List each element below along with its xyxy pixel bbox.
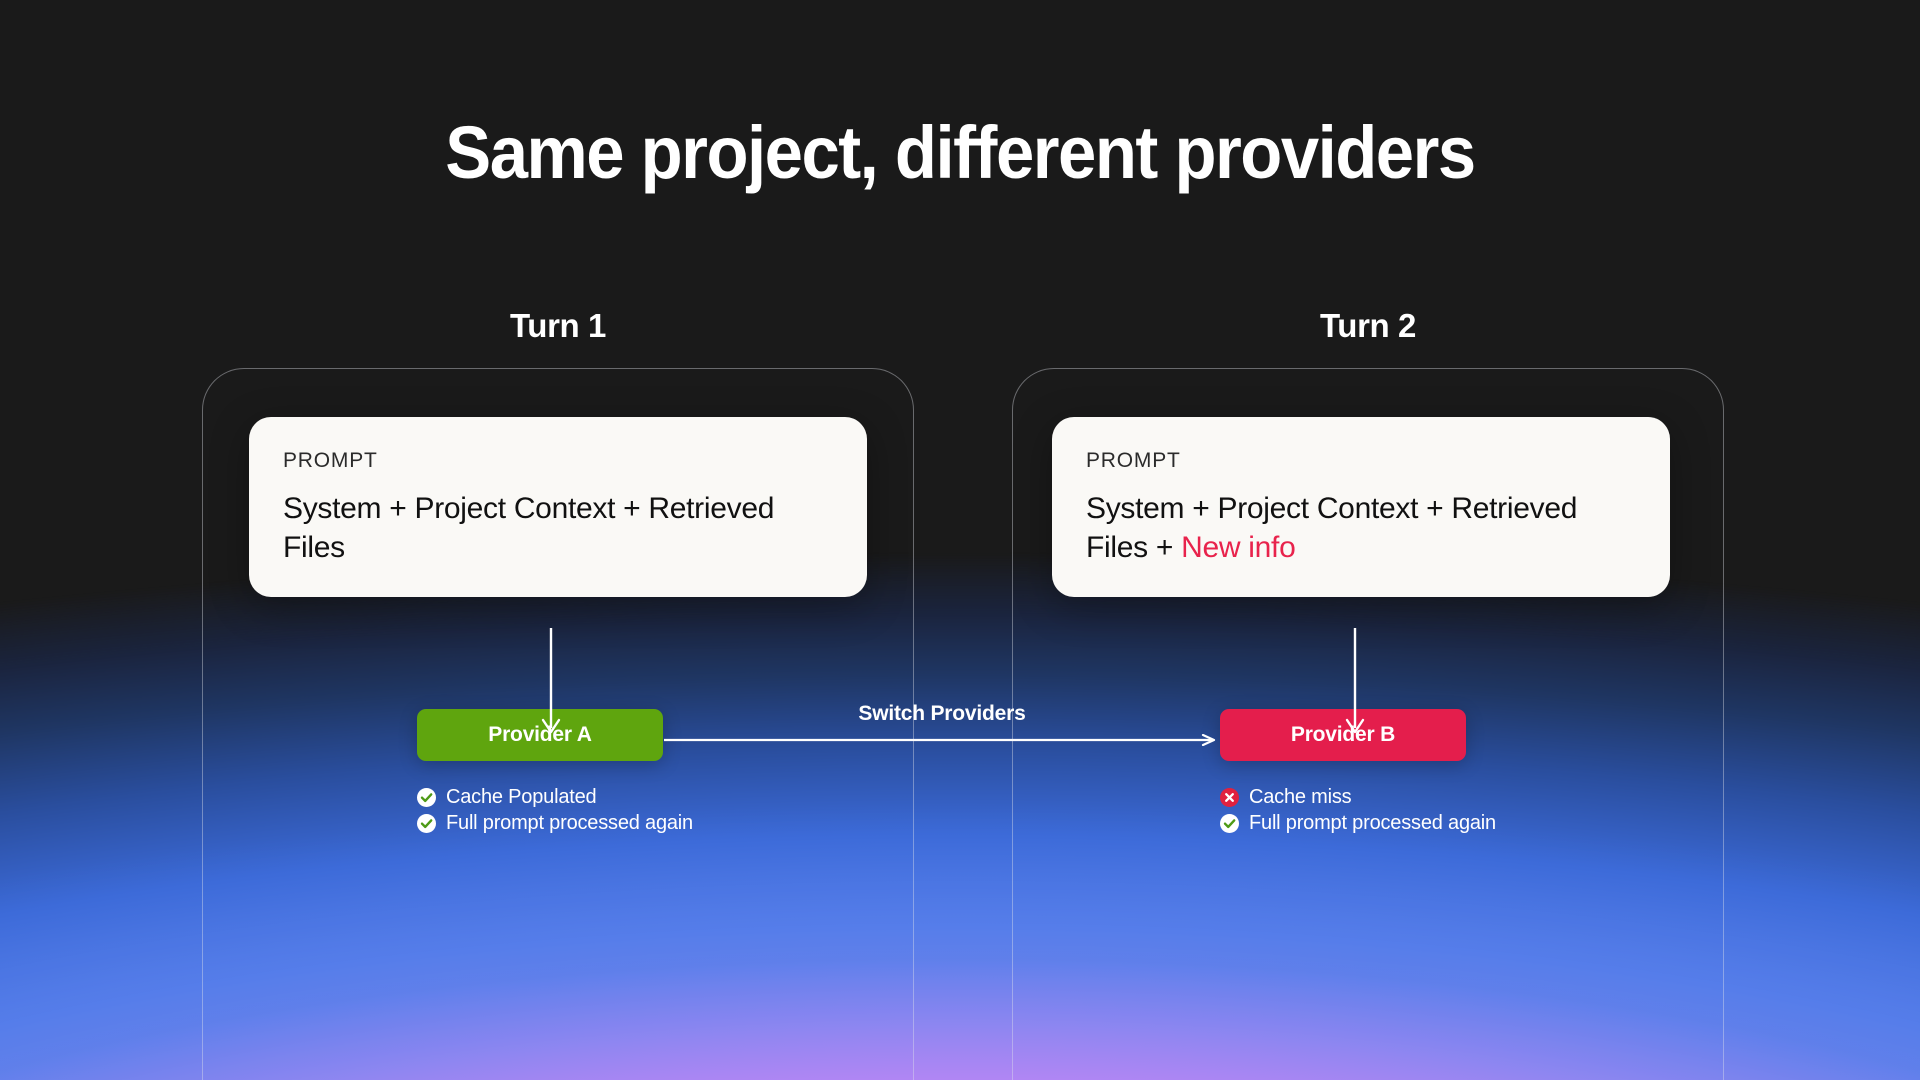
slide-canvas: Same project, different providers Turn 1… (0, 0, 1920, 1080)
arrow-down-icon-turn2 (1343, 628, 1367, 738)
prompt-text-plain-1: System + Project Context + Retrieved Fil… (283, 492, 774, 564)
slide-content: Same project, different providers Turn 1… (0, 0, 1920, 1080)
prompt-body-1: System + Project Context + Retrieved Fil… (283, 489, 833, 567)
outcome-label: Full prompt processed again (446, 812, 693, 835)
prompt-card-turn2: PROMPT System + Project Context + Retrie… (1052, 417, 1670, 597)
prompt-card-turn1: PROMPT System + Project Context + Retrie… (249, 417, 867, 597)
list-item: Cache Populated (417, 785, 693, 810)
prompt-text-accent-2: New info (1181, 531, 1295, 564)
prompt-text-plain-2: System + Project Context + Retrieved Fil… (1086, 492, 1577, 564)
check-circle-icon (417, 814, 436, 833)
outcome-list-turn1: Cache Populated Full prompt processed ag… (417, 785, 693, 837)
arrow-right-icon-switch (664, 733, 1220, 745)
outcome-list-turn2: Cache miss Full prompt processed again (1220, 785, 1496, 837)
outcome-label: Cache miss (1249, 786, 1351, 809)
outcome-label: Cache Populated (446, 786, 596, 809)
check-circle-icon (1220, 814, 1239, 833)
page-title: Same project, different providers (67, 110, 1853, 195)
list-item: Full prompt processed again (1220, 811, 1496, 836)
check-circle-icon (417, 788, 436, 807)
arrow-down-icon-turn1 (539, 628, 563, 738)
list-item: Cache miss (1220, 785, 1496, 810)
turn-label-2: Turn 2 (1012, 307, 1724, 345)
outcome-label: Full prompt processed again (1249, 812, 1496, 835)
prompt-kicker-1: PROMPT (283, 449, 833, 473)
x-circle-icon (1220, 788, 1239, 807)
switch-providers-label: Switch Providers (664, 702, 1220, 726)
turn-label-1: Turn 1 (202, 307, 914, 345)
list-item: Full prompt processed again (417, 811, 693, 836)
prompt-kicker-2: PROMPT (1086, 449, 1636, 473)
prompt-body-2: System + Project Context + Retrieved Fil… (1086, 489, 1636, 567)
